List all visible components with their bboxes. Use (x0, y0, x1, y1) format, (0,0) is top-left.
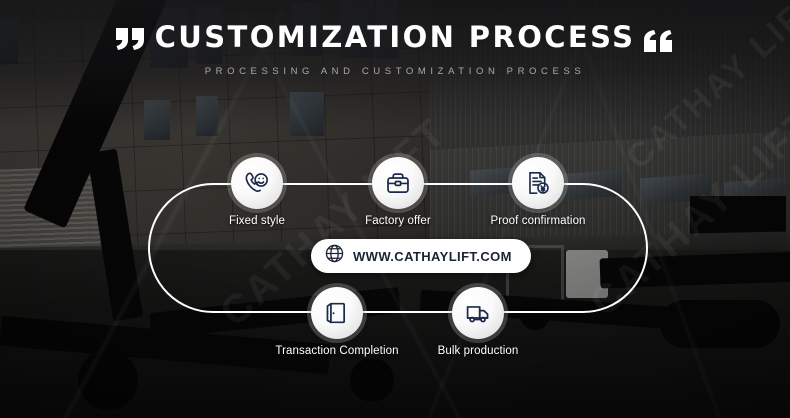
briefcase-icon (385, 170, 411, 196)
door-icon (324, 300, 350, 326)
banner-header: CUSTOMIZATION PROCESS PROCESSING AND CUS… (0, 22, 790, 77)
process-step-fixed-style[interactable]: Fixed style (231, 157, 283, 209)
title-row: CUSTOMIZATION PROCESS (0, 22, 790, 52)
step-icon-circle[interactable] (512, 157, 564, 209)
step-label: Transaction Completion (275, 345, 398, 357)
process-step-transaction-completion[interactable]: Transaction Completion (311, 287, 363, 339)
process-step-proof-confirmation[interactable]: Proof confirmation (512, 157, 564, 209)
document-money-icon (525, 170, 551, 196)
website-url: WWW.CATHAYLIFT.COM (353, 249, 512, 264)
phone-smile-icon (244, 170, 270, 196)
step-label: Fixed style (229, 215, 285, 227)
step-label: Bulk production (438, 345, 519, 357)
step-label: Proof confirmation (490, 215, 585, 227)
process-step-bulk-production[interactable]: Bulk production (452, 287, 504, 339)
truck-icon (465, 300, 491, 326)
step-icon-circle[interactable] (231, 157, 283, 209)
globe-icon (324, 243, 345, 269)
quote-open-icon (116, 28, 146, 50)
step-icon-circle[interactable] (372, 157, 424, 209)
page-title: CUSTOMIZATION PROCESS (155, 22, 636, 52)
page-subtitle: PROCESSING AND CUSTOMIZATION PROCESS (0, 66, 790, 77)
quote-close-icon (644, 30, 674, 52)
banner-stage: CATHAY LIFT CATHAY LIFT CATHAY LIFT CUST… (0, 0, 790, 418)
process-step-factory-offer[interactable]: Factory offer (372, 157, 424, 209)
step-icon-circle[interactable] (452, 287, 504, 339)
step-icon-circle[interactable] (311, 287, 363, 339)
step-label: Factory offer (365, 215, 431, 227)
website-button[interactable]: WWW.CATHAYLIFT.COM (311, 239, 531, 273)
